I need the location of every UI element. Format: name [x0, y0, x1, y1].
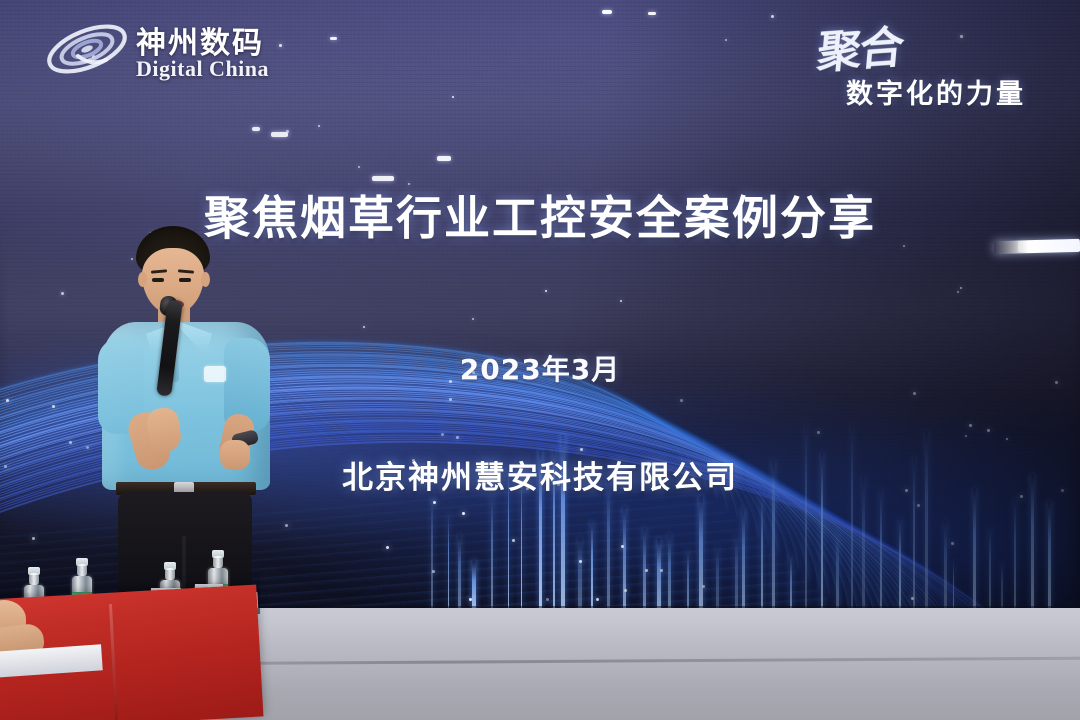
speaker-ear-left — [138, 272, 147, 287]
bottle-neck — [77, 564, 87, 576]
bottle-neck — [165, 568, 175, 580]
stage-photo: 聚焦烟草行业工控安全案例分享 2023年3月 北京神州慧安科技有限公司 神州数码… — [0, 0, 1080, 720]
digital-china-logo: 神州数码 Digital China — [44, 16, 274, 90]
speaker-figure — [96, 226, 276, 616]
bottle-neck — [213, 556, 223, 568]
event-logo-tagline: 数字化的力量 — [846, 72, 1026, 111]
screen-light-streak — [994, 239, 1080, 254]
event-logo: 聚合 数字化的力量 — [800, 14, 1060, 118]
speaker-ear-right — [201, 272, 210, 287]
digital-china-english: Digital China — [136, 56, 269, 82]
bottle-neck — [29, 573, 39, 585]
event-logo-calligraphy: 聚合 — [815, 11, 905, 81]
speaker-eye-right — [179, 278, 191, 282]
speaker-hand-right — [220, 440, 250, 470]
speaker-eye-left — [152, 278, 164, 282]
speaker-chest-logo — [204, 366, 226, 382]
spiral-swirl-logo-icon — [44, 16, 130, 82]
